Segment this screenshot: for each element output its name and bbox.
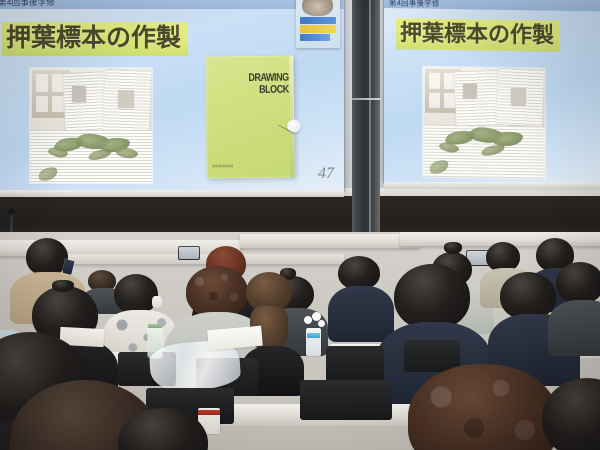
head [338,256,380,290]
notebook-footer: MARUMAN [212,163,233,168]
cat-banner-poster [296,0,340,48]
torso [328,286,394,342]
screen-left-frame-bottom [0,190,344,197]
poster-text-line2 [300,25,336,33]
microphone [8,208,15,215]
slide-title-left: 押葉標本の作製 [2,22,188,56]
newspaper-photo [72,86,86,102]
poster-text-line1 [300,17,336,24]
drawing-block-notebook: DRAWING BLOCK MARUMAN [205,56,294,179]
screen-right-frame-bottom [384,182,600,189]
torso [548,300,600,356]
poster-text-line3 [300,34,330,41]
cup-band [198,410,220,415]
head [114,274,158,314]
face-mask [152,296,162,308]
projection-screen-left: 第4回事後学修 押葉標本の作製 [0,0,344,191]
notebook-brand-line2: BLOCK [243,84,289,96]
center-pillar [352,0,380,236]
notebook-spine [289,56,294,178]
smartphone [62,259,74,275]
chair [326,346,384,382]
newspaper-photo [118,90,134,108]
hair-clip [52,280,74,292]
head [500,272,556,320]
cat-photo [302,0,333,16]
projection-screen-right: 第4回事後学修 押葉標本の作製 [384,0,600,186]
notebook-brand-line1: DRAWING [243,72,289,84]
head [542,378,600,450]
bottle-with-charm [306,328,321,356]
head [26,238,68,276]
slide-title-right: 押葉標本の作製 [396,18,560,52]
notebook-clip [287,119,301,132]
slide-photo-left [30,68,152,183]
screenshot-root: 第4回事後学修 押葉標本の作製 [0,0,600,450]
slide-header-left: 第4回事後学修 [0,0,344,9]
newspaper-photo [463,83,477,98]
flower-charm [318,320,325,327]
head [556,262,600,304]
head [186,266,248,318]
desk [240,234,420,248]
head [394,264,470,330]
slide-photo-right [423,67,545,179]
flower-charm [304,316,312,324]
bottle-label [307,333,320,338]
slide-header-right: 第4回事後学修 [384,0,600,12]
monitor [178,246,200,260]
pillar-highlight [369,0,371,236]
chair [300,380,392,420]
audience-area [0,232,600,450]
bottle-cap [148,324,162,328]
hair-bun [444,242,462,254]
notebook-brand: DRAWING BLOCK [243,72,289,96]
pillar-seam [352,98,380,100]
newspaper-photo [511,88,526,105]
slide-number-left: 47 [318,165,334,183]
